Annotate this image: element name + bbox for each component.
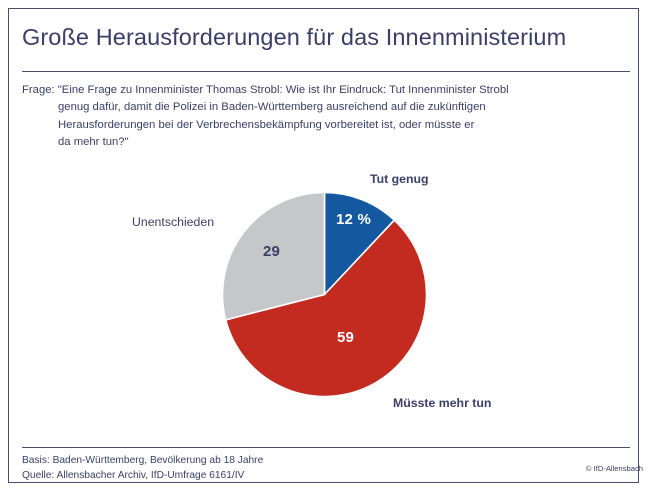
pie-svg [222, 192, 427, 397]
slice-value-unentschieden: 29 [263, 243, 280, 260]
pie-chart [0, 160, 657, 430]
category-label-tut-genug: Tut genug [370, 172, 429, 186]
question-line-3: Herausforderungen bei der Verbrechensbek… [22, 117, 622, 134]
pie-graphic [222, 192, 427, 397]
category-label-muesste-mehr-tun: Müsste mehr tun [393, 396, 491, 410]
slice-value-muesste-mehr-tun: 59 [337, 329, 354, 346]
footer-block: Basis: Baden-Württemberg, Bevölkerung ab… [22, 454, 630, 483]
copyright-notice: © IfD-Allensbach [586, 464, 643, 473]
page-title: Große Herausforderungen für das Innenmin… [22, 22, 622, 52]
chart-canvas: Große Herausforderungen für das Innenmin… [0, 0, 657, 497]
footer-quelle: Quelle: Allensbacher Archiv, IfD-Umfrage… [22, 469, 630, 484]
question-line-4: da mehr tun?" [22, 134, 622, 151]
question-line-1: Frage: "Eine Frage zu Innenminister Thom… [22, 82, 622, 99]
slice-value-tut-genug: 12 % [336, 211, 371, 228]
category-label-unentschieden: Unentschieden [132, 215, 214, 229]
title-divider [22, 71, 630, 72]
question-line-2: genug dafür, damit die Polizei in Baden-… [22, 99, 622, 116]
question-block: Frage: "Eine Frage zu Innenminister Thom… [22, 82, 622, 152]
footer-divider [22, 447, 630, 448]
footer-basis: Basis: Baden-Württemberg, Bevölkerung ab… [22, 454, 630, 469]
